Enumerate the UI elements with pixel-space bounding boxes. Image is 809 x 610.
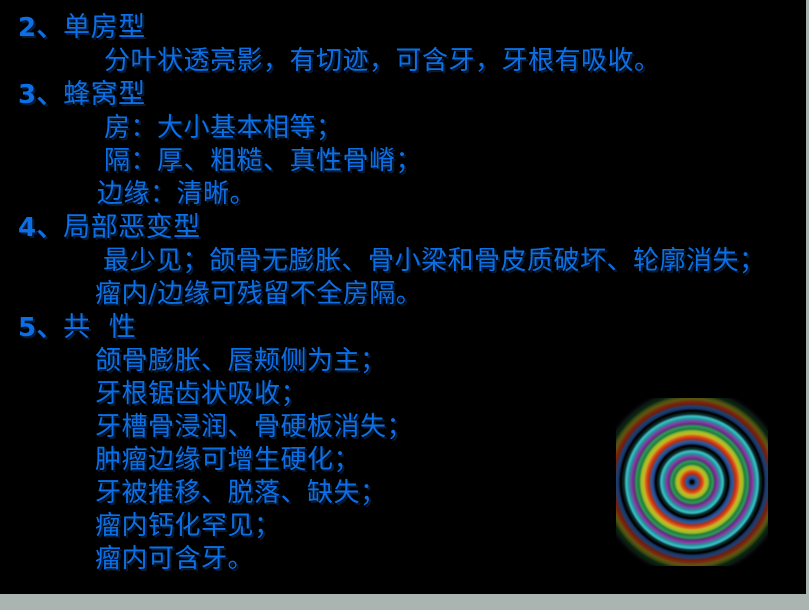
list-number: 4、 xyxy=(18,213,63,243)
slide-heading-2: 2、单房型 xyxy=(18,14,806,48)
slide-heading-3: 3、蜂窝型 xyxy=(18,81,806,115)
heading-text: 蜂窝型 xyxy=(63,79,146,110)
list-number: 3、 xyxy=(18,80,63,110)
slide-viewer: 2、单房型 分叶状透亮影，有切迹，可含牙，牙根有吸收。 3、蜂窝型 房：大小基本… xyxy=(0,0,809,610)
list-number: 5、 xyxy=(18,313,63,343)
ring-vignette xyxy=(616,398,768,566)
heading-text: 共 性 xyxy=(63,312,136,343)
slide-canvas: 2、单房型 分叶状透亮影，有切迹，可含牙，牙根有吸收。 3、蜂窝型 房：大小基本… xyxy=(0,0,806,594)
slide-detail-line: 边缘：清晰。 xyxy=(97,181,806,214)
slide-detail-line: 隔：厚、粗糙、真性骨嵴； xyxy=(104,148,806,181)
slide-detail-line: 最少见；颌骨无膨胀、骨小梁和骨皮质破坏、轮廓消失； xyxy=(103,248,806,281)
slide-heading-4: 4、局部恶变型 xyxy=(18,214,806,248)
slide-heading-5: 5、共 性 xyxy=(18,314,806,348)
slide-detail-line: 瘤内/边缘可残留不全房隔。 xyxy=(95,281,806,314)
slide-detail-line: 颌骨膨胀、唇颊侧为主； xyxy=(95,348,806,381)
heading-text: 单房型 xyxy=(63,12,146,43)
heading-text: 局部恶变型 xyxy=(63,212,201,243)
list-number: 2、 xyxy=(18,13,63,43)
slide-detail-line: 分叶状透亮影，有切迹，可含牙，牙根有吸收。 xyxy=(104,48,806,81)
viewer-bottom-edge xyxy=(0,594,809,610)
slide-detail-line: 房：大小基本相等； xyxy=(104,115,806,148)
concentric-rings-image xyxy=(616,398,768,566)
